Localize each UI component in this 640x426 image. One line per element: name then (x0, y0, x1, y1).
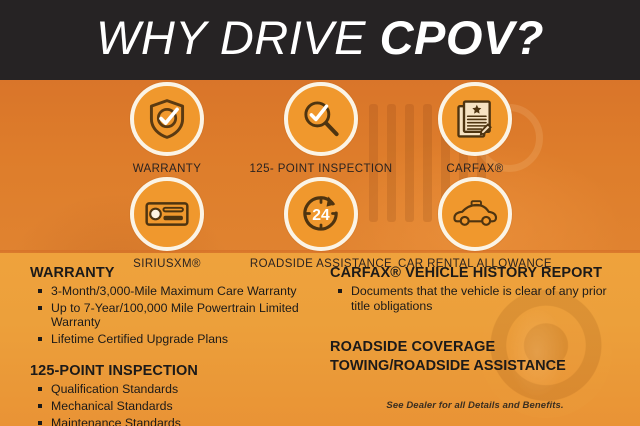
list-item: Lifetime Certified Upgrade Plans (32, 332, 330, 347)
car-stereo-icon (130, 177, 204, 251)
magnifier-check-icon (284, 82, 358, 156)
left-details-column: WARRANTY 3-Month/3,000-Mile Maximum Care… (30, 265, 330, 426)
warranty-heading: WARRANTY (30, 265, 330, 282)
header-banner: WHY DRIVE CPOV? (0, 0, 640, 80)
list-item: Up to 7-Year/100,000 Mile Powertrain Lim… (32, 301, 330, 330)
roadside-heading-line2: TOWING/ROADSIDE ASSISTANCE (330, 358, 620, 375)
clock-24-icon: 24 (284, 177, 358, 251)
inspection-list: Qualification Standards Mechanical Stand… (32, 382, 330, 426)
cpov-infographic: WHY DRIVE CPOV? WARRANTY 125- P (0, 0, 640, 426)
certificate-document-icon (438, 82, 512, 156)
benefit-inspection-label: 125- POINT INSPECTION (236, 163, 406, 175)
benefit-warranty[interactable]: WARRANTY (82, 82, 252, 175)
inspection-block: 125-POINT INSPECTION Qualification Stand… (30, 363, 330, 426)
warranty-list: 3-Month/3,000-Mile Maximum Care Warranty… (32, 284, 330, 346)
shield-check-icon (130, 82, 204, 156)
svg-text:24: 24 (312, 207, 330, 224)
list-item: 3-Month/3,000-Mile Maximum Care Warranty (32, 284, 330, 299)
benefit-carfax-label: CARFAX® (390, 163, 560, 175)
roadside-block: ROADSIDE COVERAGE TOWING/ROADSIDE ASSIST… (330, 339, 620, 375)
page-title: WHY DRIVE CPOV? (0, 12, 640, 64)
list-item: Maintenance Standards (32, 416, 330, 426)
benefits-icon-grid: WARRANTY 125- POINT INSPECTION (0, 80, 640, 255)
carfax-list: Documents that the vehicle is clear of a… (332, 284, 620, 313)
roadside-heading-line1: ROADSIDE COVERAGE (330, 339, 620, 356)
car-icon (438, 177, 512, 251)
list-item: Qualification Standards (32, 382, 330, 397)
inspection-heading: 125-POINT INSPECTION (30, 363, 330, 380)
disclaimer-text: See Dealer for all Details and Benefits. (330, 400, 620, 411)
benefit-warranty-label: WARRANTY (82, 163, 252, 175)
benefit-inspection[interactable]: 125- POINT INSPECTION (236, 82, 406, 175)
page-title-bold: CPOV? (380, 11, 544, 64)
details-section: WARRANTY 3-Month/3,000-Mile Maximum Care… (0, 255, 640, 426)
list-item: Documents that the vehicle is clear of a… (332, 284, 620, 313)
right-details-column: CARFAX® VEHICLE HISTORY REPORT Documents… (330, 265, 620, 375)
list-item: Mechanical Standards (32, 399, 330, 414)
carfax-heading: CARFAX® VEHICLE HISTORY REPORT (330, 265, 620, 282)
page-title-light: WHY DRIVE (96, 11, 380, 64)
benefit-carfax[interactable]: CARFAX® (390, 82, 560, 175)
